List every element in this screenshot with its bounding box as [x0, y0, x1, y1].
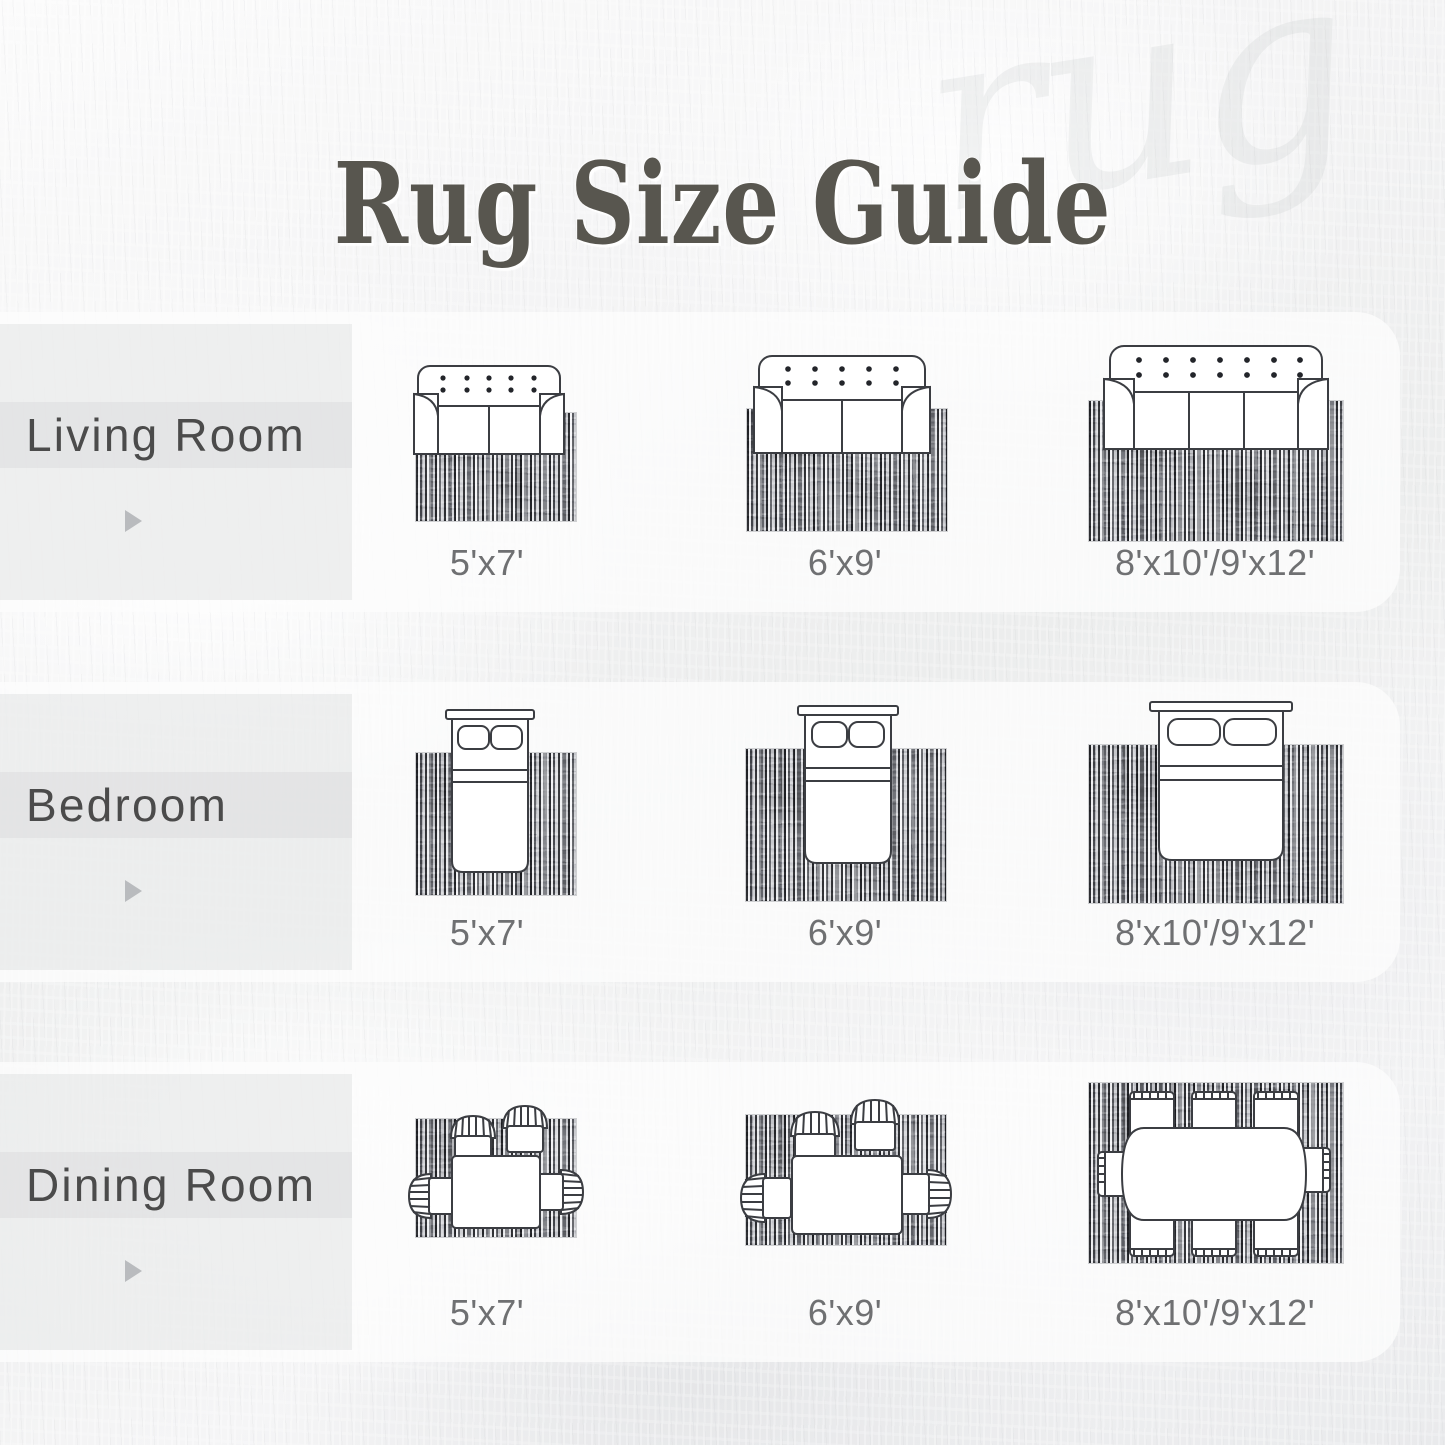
- bed-queen-top-view-icon: [1148, 700, 1294, 868]
- dining-room-option-8x10-9x12[interactable]: 8'x10'/9'x12': [1045, 1062, 1385, 1362]
- page-title: Rug Size Guide: [145, 149, 1301, 261]
- sofa-2-cushion-icon: [751, 354, 933, 476]
- section-living-room: Living Room: [0, 312, 1400, 612]
- size-label: 6'x9': [808, 542, 882, 584]
- section-label-living-room: Living Room: [26, 404, 306, 466]
- bed-queen-top-view-icon: [444, 708, 536, 878]
- section-dining-room: Dining Room: [0, 1062, 1400, 1362]
- living-room-option-8x10-9x12[interactable]: 8'x10'/9'x12': [1045, 312, 1385, 612]
- bedroom-option-8x10-9x12[interactable]: 8'x10'/9'x12': [1045, 682, 1385, 982]
- size-label: 8'x10'/9'x12': [1115, 542, 1315, 584]
- size-label: 6'x9': [808, 912, 882, 954]
- dining-table-4-chairs-icon: [405, 1108, 587, 1248]
- size-label: 5'x7': [450, 542, 524, 584]
- triangle-right-icon[interactable]: [125, 510, 142, 532]
- dining-room-option-5x7[interactable]: 5'x7': [352, 1062, 622, 1362]
- size-label: 8'x10'/9'x12': [1115, 912, 1315, 954]
- section-label-panel-dining-room[interactable]: Dining Room: [0, 1074, 352, 1350]
- bedroom-option-5x7[interactable]: 5'x7': [352, 682, 622, 982]
- scene-dining-rug: [397, 1104, 577, 1256]
- section-label-panel-living-room[interactable]: Living Room: [0, 324, 352, 600]
- dining-table-8-chairs-icon: [1092, 1086, 1340, 1262]
- triangle-right-icon[interactable]: [125, 880, 142, 902]
- scene-bed-rug: [397, 708, 577, 898]
- scene-dining-rug: [1074, 1082, 1356, 1272]
- scene-bed-rug: [1074, 700, 1356, 902]
- scene-sofa-rug: [397, 364, 577, 522]
- sofa-3-cushion-icon: [1100, 344, 1332, 474]
- triangle-right-icon[interactable]: [125, 1260, 142, 1282]
- size-label: 6'x9': [808, 1292, 882, 1334]
- scene-dining-rug: [730, 1098, 960, 1262]
- dining-table-4-chairs-icon: [735, 1102, 957, 1254]
- size-label: 5'x7': [450, 912, 524, 954]
- dining-room-option-6x9[interactable]: 6'x9': [700, 1062, 990, 1362]
- living-room-option-6x9[interactable]: 6'x9': [700, 312, 990, 612]
- sofa-2-cushion-icon: [411, 364, 567, 476]
- section-label-bedroom: Bedroom: [26, 774, 228, 836]
- bedroom-option-6x9[interactable]: 6'x9': [700, 682, 990, 982]
- scene-sofa-rug: [730, 354, 960, 526]
- section-label-panel-bedroom[interactable]: Bedroom: [0, 694, 352, 970]
- bed-queen-top-view-icon: [796, 704, 900, 872]
- size-label: 8'x10'/9'x12': [1115, 1292, 1315, 1334]
- section-bedroom: Bedroom 5'x7': [0, 682, 1400, 982]
- scene-bed-rug: [730, 704, 960, 900]
- section-label-dining-room: Dining Room: [26, 1154, 316, 1216]
- size-label: 5'x7': [450, 1292, 524, 1334]
- living-room-option-5x7[interactable]: 5'x7': [352, 312, 622, 612]
- scene-sofa-rug: [1074, 344, 1356, 536]
